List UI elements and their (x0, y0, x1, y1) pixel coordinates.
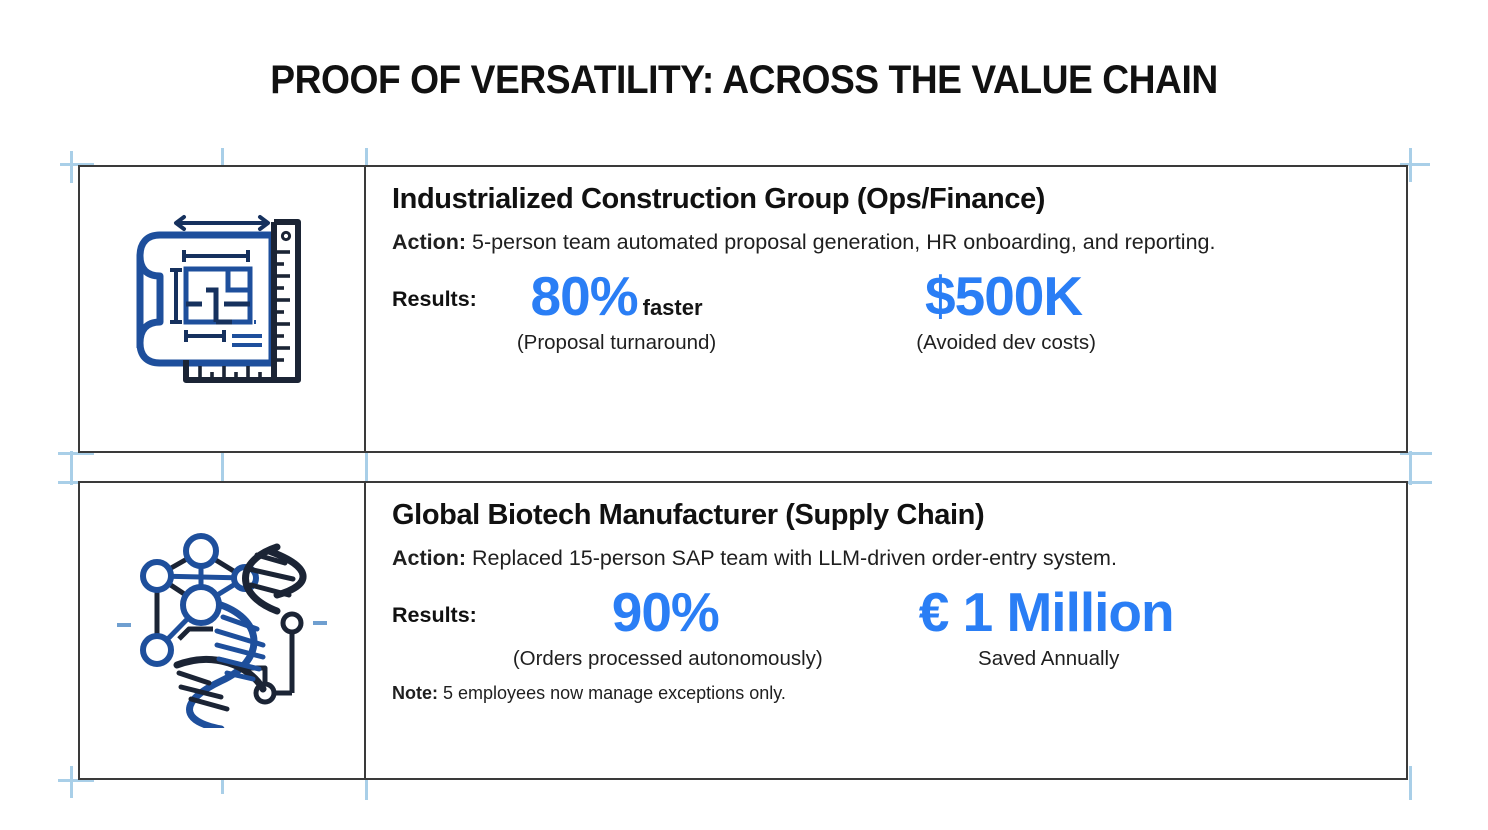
results-label: Results: (392, 269, 477, 312)
results-label: Results: (392, 585, 477, 628)
guide-mark-vertical-left-bottom (70, 766, 73, 798)
card-heading-biotech: Global Biotech Manufacturer (Supply Chai… (392, 499, 1380, 532)
note-line-biotech: Note: 5 employees now manage exceptions … (392, 683, 1380, 704)
stat-block: 80% faster (Proposal turnaround) (517, 269, 716, 355)
stat-figure: 90% (612, 585, 719, 640)
stat-main: 90% (612, 585, 724, 640)
card-body-construction: Industrialized Construction Group (Ops/F… (366, 167, 1406, 451)
card-icon-cell-biotech (80, 483, 366, 778)
card-icon-cell-construction (80, 167, 366, 451)
action-text: 5-person team automated proposal generat… (472, 230, 1215, 254)
stat-caption: (Proposal turnaround) (517, 331, 716, 355)
case-card-biotech: Global Biotech Manufacturer (Supply Chai… (78, 481, 1408, 780)
stat-suffix: faster (643, 297, 703, 319)
card-heading-construction: Industrialized Construction Group (Ops/F… (392, 183, 1380, 216)
card-body-biotech: Global Biotech Manufacturer (Supply Chai… (366, 483, 1406, 778)
guide-mark-vertical-left-top (70, 151, 73, 183)
action-label: Action: (392, 546, 466, 570)
stat-group-construction: 80% faster (Proposal turnaround) $500K (… (477, 269, 1380, 355)
results-row-construction: Results: 80% faster (Proposal turnaround… (392, 269, 1380, 355)
case-card-construction: Industrialized Construction Group (Ops/F… (78, 165, 1408, 453)
stat-main: 80% faster (531, 269, 703, 324)
stat-group-biotech: 90% (Orders processed autonomously) € 1 … (477, 585, 1380, 671)
stat-caption: (Avoided dev costs) (916, 331, 1096, 355)
action-text: Replaced 15-person SAP team with LLM-dri… (472, 546, 1117, 570)
stat-figure: $500K (925, 269, 1082, 324)
action-label: Action: (392, 230, 466, 254)
stat-figure: 80% (531, 269, 638, 324)
stat-block: 90% (Orders processed autonomously) (513, 585, 823, 671)
blueprint-ruler-icon (120, 212, 325, 407)
guide-mark-vertical-right-mid (1409, 451, 1412, 485)
stat-caption: (Orders processed autonomously) (513, 647, 823, 671)
note-label: Note: (392, 683, 438, 703)
dna-network-icon (117, 533, 327, 728)
stat-figure: € 1 Million (919, 585, 1174, 640)
stat-main: $500K (925, 269, 1087, 324)
action-line-construction: Action: 5-person team automated proposal… (392, 228, 1380, 257)
stat-block: € 1 Million Saved Annually (919, 585, 1179, 671)
results-row-biotech: Results: 90% (Orders processed autonomou… (392, 585, 1380, 671)
stat-caption: Saved Annually (978, 647, 1119, 671)
stat-main: € 1 Million (919, 585, 1179, 640)
guide-mark-vertical-right-bottom (1409, 766, 1412, 800)
note-text: 5 employees now manage exceptions only. (443, 683, 786, 703)
action-line-biotech: Action: Replaced 15-person SAP team with… (392, 544, 1380, 573)
guide-mark-vertical-left-mid (70, 451, 73, 485)
page-title: PROOF OF VERSATILITY: ACROSS THE VALUE C… (52, 58, 1436, 103)
stat-block: $500K (Avoided dev costs) (916, 269, 1096, 355)
guide-mark-vertical-divider-mid (365, 451, 368, 485)
